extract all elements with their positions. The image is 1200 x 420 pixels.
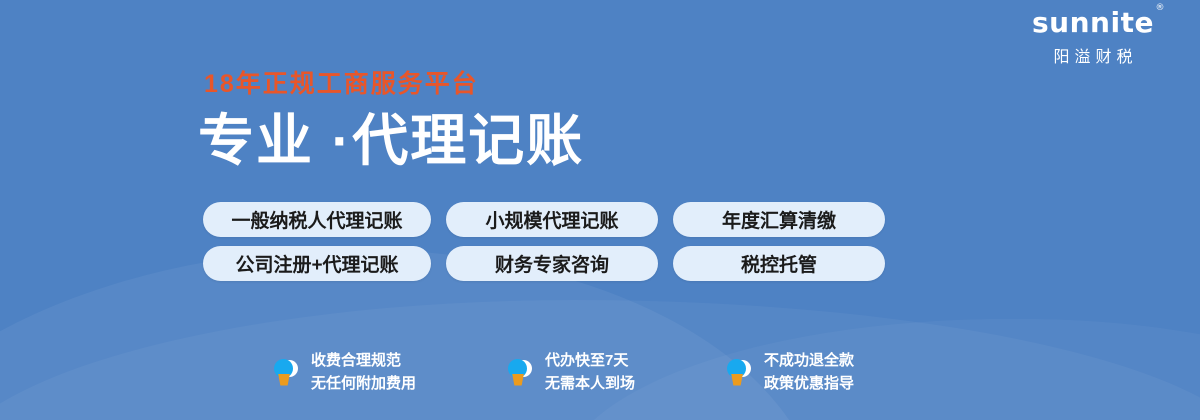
feature-item: 不成功退全款 政策优惠指导: [725, 350, 854, 395]
logo-wordmark-text: sunnite: [1032, 6, 1154, 39]
feature-line-1: 代办快至7天: [545, 350, 635, 373]
hero-copy: 18年正规工商服务平台 专业 ·代理记账: [198, 72, 584, 169]
feature-text: 不成功退全款 政策优惠指导: [764, 350, 854, 395]
feature-item: 代办快至7天 无需本人到场: [506, 350, 635, 395]
feature-item: 收费合理规范 无任何附加费用: [272, 350, 416, 395]
feature-line-2: 政策优惠指导: [764, 373, 854, 396]
hero-headline: 专业 ·代理记账: [198, 113, 584, 169]
brand-logo[interactable]: sunnite ® 阳溢财税: [1008, 8, 1178, 67]
service-pill[interactable]: 年度汇算清缴: [673, 202, 885, 237]
service-pill-grid: 一般纳税人代理记账 小规模代理记账 年度汇算清缴 公司注册+代理记账 财务专家咨…: [203, 202, 885, 281]
hero-eyebrow: 18年正规工商服务平台: [204, 72, 584, 97]
registered-trademark-icon: ®: [1155, 4, 1165, 13]
feature-line-2: 无任何附加费用: [311, 373, 416, 396]
feature-line-2: 无需本人到场: [545, 373, 635, 396]
promo-banner: sunnite ® 阳溢财税 18年正规工商服务平台 专业 ·代理记账 一般纳税…: [0, 0, 1200, 420]
feature-line-1: 收费合理规范: [311, 350, 416, 373]
feature-list: 收费合理规范 无任何附加费用 代办快至7天 无需本人到场 不成功退全款: [272, 350, 854, 395]
logo-wordmark: sunnite ®: [1032, 8, 1154, 37]
logo-chinese-name: 阳溢财税: [1008, 43, 1178, 67]
lightbulb-icon: [272, 357, 300, 389]
service-pill[interactable]: 公司注册+代理记账: [203, 246, 431, 281]
feature-line-1: 不成功退全款: [764, 350, 854, 373]
service-pill[interactable]: 一般纳税人代理记账: [203, 202, 431, 237]
feature-text: 收费合理规范 无任何附加费用: [311, 350, 416, 395]
feature-text: 代办快至7天 无需本人到场: [545, 350, 635, 395]
service-pill[interactable]: 税控托管: [673, 246, 885, 281]
service-pill[interactable]: 财务专家咨询: [446, 246, 658, 281]
lightbulb-icon: [506, 357, 534, 389]
lightbulb-icon: [725, 357, 753, 389]
service-pill[interactable]: 小规模代理记账: [446, 202, 658, 237]
